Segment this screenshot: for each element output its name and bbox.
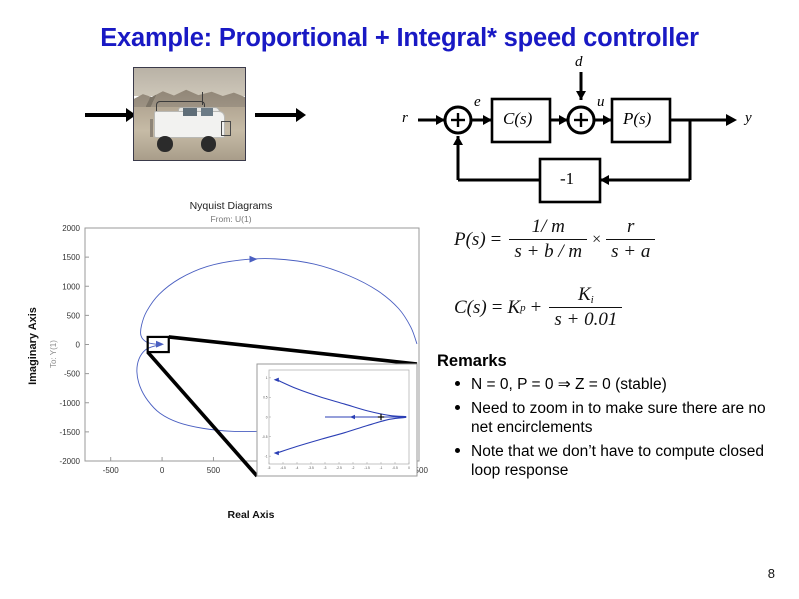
controller-eq-kp-sub: p — [520, 302, 526, 314]
page-number: 8 — [768, 566, 775, 581]
page-title: Example: Proportional + Integral* speed … — [0, 24, 799, 53]
chart-subtitle: From: U(1) — [210, 214, 251, 224]
list-item: Need to zoom in to make sure there are n… — [455, 399, 777, 437]
svg-text:-1000: -1000 — [60, 399, 81, 408]
chart-xlabel: Real Axis — [228, 509, 275, 521]
nyquist-chart: Nyquist Diagrams From: U(1) 200015001000… — [20, 196, 440, 538]
truck-wheel-rear — [157, 136, 173, 152]
feedback-block-label: -1 — [560, 169, 574, 189]
svg-text:0.5: 0.5 — [263, 396, 268, 400]
plant-eq-operator: × — [592, 231, 601, 249]
svg-text:500: 500 — [67, 311, 81, 320]
svg-text:1: 1 — [266, 376, 268, 380]
svg-text:0: 0 — [408, 466, 410, 470]
svg-text:-1: -1 — [380, 466, 383, 470]
truck-window-rear — [183, 108, 197, 115]
plant-block-label: P(s) — [623, 109, 651, 129]
chart-ylabel: Imaginary Axis — [27, 307, 39, 385]
plant-equation: P(s) = 1/ m s + b / m × r s + a — [454, 216, 658, 263]
plant-eq-frac1-num: 1/ m — [527, 216, 570, 239]
plant-eq-fraction-1: 1/ m s + b / m — [509, 216, 587, 263]
controller-eq-fraction: Ki s + 0.01 — [549, 284, 622, 331]
block-diagram: r e d u y C(s) P(s) -1 — [400, 58, 780, 206]
plant-eq-frac2-den: s + a — [606, 239, 655, 263]
chart-title: Nyquist Diagrams — [190, 200, 273, 212]
plant-eq-frac2-num: r — [622, 216, 639, 239]
remarks-list: N = 0, P = 0 ⇒ Z = 0 (stable) Need to zo… — [437, 375, 777, 480]
svg-text:2000: 2000 — [62, 224, 80, 233]
truck-front-bar — [221, 121, 232, 136]
plant-eq-equals: = — [491, 229, 502, 251]
inset-plot-area — [257, 364, 417, 476]
signal-label-y: y — [745, 110, 752, 127]
controller-eq-lhs: C(s) — [454, 297, 487, 319]
truck-antenna-mast — [202, 92, 204, 105]
controller-eq-plus: + — [531, 297, 542, 319]
svg-text:1000: 1000 — [62, 282, 80, 291]
controller-eq-ki: K — [578, 284, 591, 305]
nyquist-chart-svg: Nyquist Diagrams From: U(1) 200015001000… — [20, 196, 440, 538]
signal-label-r: r — [402, 110, 408, 127]
truck-photo — [133, 67, 246, 161]
truck-wheel-front — [201, 136, 217, 152]
svg-text:500: 500 — [207, 466, 221, 475]
svg-text:-3: -3 — [324, 466, 327, 470]
controller-eq-frac-den: s + 0.01 — [549, 307, 622, 331]
list-item: N = 0, P = 0 ⇒ Z = 0 (stable) — [455, 375, 777, 394]
svg-text:0: 0 — [160, 466, 165, 475]
signal-label-u: u — [597, 94, 605, 111]
svg-text:0: 0 — [76, 341, 81, 350]
controller-equation: C(s) = Kp + Ki s + 0.01 — [454, 284, 625, 331]
chart-inset: -5-4.5-4-3.5-3-2.5-2-1.5-1-0.5010.50-0.5… — [257, 364, 417, 476]
controller-eq-kp: K — [507, 297, 520, 319]
svg-text:-4.5: -4.5 — [280, 466, 286, 470]
controller-eq-equals: = — [492, 297, 503, 319]
svg-text:-1500: -1500 — [60, 428, 81, 437]
svg-text:0: 0 — [266, 415, 268, 419]
svg-text:-2.5: -2.5 — [336, 466, 342, 470]
svg-text:-3.5: -3.5 — [308, 466, 314, 470]
input-arrow-icon — [85, 113, 127, 117]
remarks-section: Remarks N = 0, P = 0 ⇒ Z = 0 (stable) Ne… — [437, 352, 777, 485]
equations: P(s) = 1/ m s + b / m × r s + a C(s) = K… — [430, 212, 760, 340]
svg-text:1500: 1500 — [62, 253, 80, 262]
svg-text:-1: -1 — [265, 454, 268, 458]
plant-eq-frac1-den: s + b / m — [509, 239, 587, 263]
truck-window-front — [201, 108, 213, 115]
controller-block-label: C(s) — [503, 109, 532, 129]
svg-text:-500: -500 — [64, 370, 81, 379]
svg-text:-0.5: -0.5 — [392, 466, 398, 470]
chart-ylabel-secondary: To: Y(1) — [49, 340, 58, 368]
slide-root: Example: Proportional + Integral* speed … — [0, 0, 799, 599]
truck-ladder — [150, 119, 153, 137]
signal-label-e: e — [474, 94, 481, 111]
svg-text:-500: -500 — [103, 466, 120, 475]
controller-eq-ki-sub: i — [591, 294, 594, 306]
controller-eq-frac-num-wrap: Ki — [573, 284, 599, 307]
svg-text:-5: -5 — [268, 466, 271, 470]
svg-text:-4: -4 — [296, 466, 299, 470]
list-item: Note that we don’t have to compute close… — [455, 442, 777, 480]
output-arrow-icon — [255, 113, 297, 117]
signal-label-d: d — [575, 54, 583, 71]
svg-text:-2000: -2000 — [60, 457, 81, 466]
svg-text:-2: -2 — [352, 466, 355, 470]
plant-eq-fraction-2: r s + a — [606, 216, 655, 263]
svg-text:-0.5: -0.5 — [262, 435, 268, 439]
plant-eq-lhs: P(s) — [454, 229, 486, 251]
remarks-heading: Remarks — [437, 352, 777, 371]
svg-text:-1.5: -1.5 — [364, 466, 370, 470]
